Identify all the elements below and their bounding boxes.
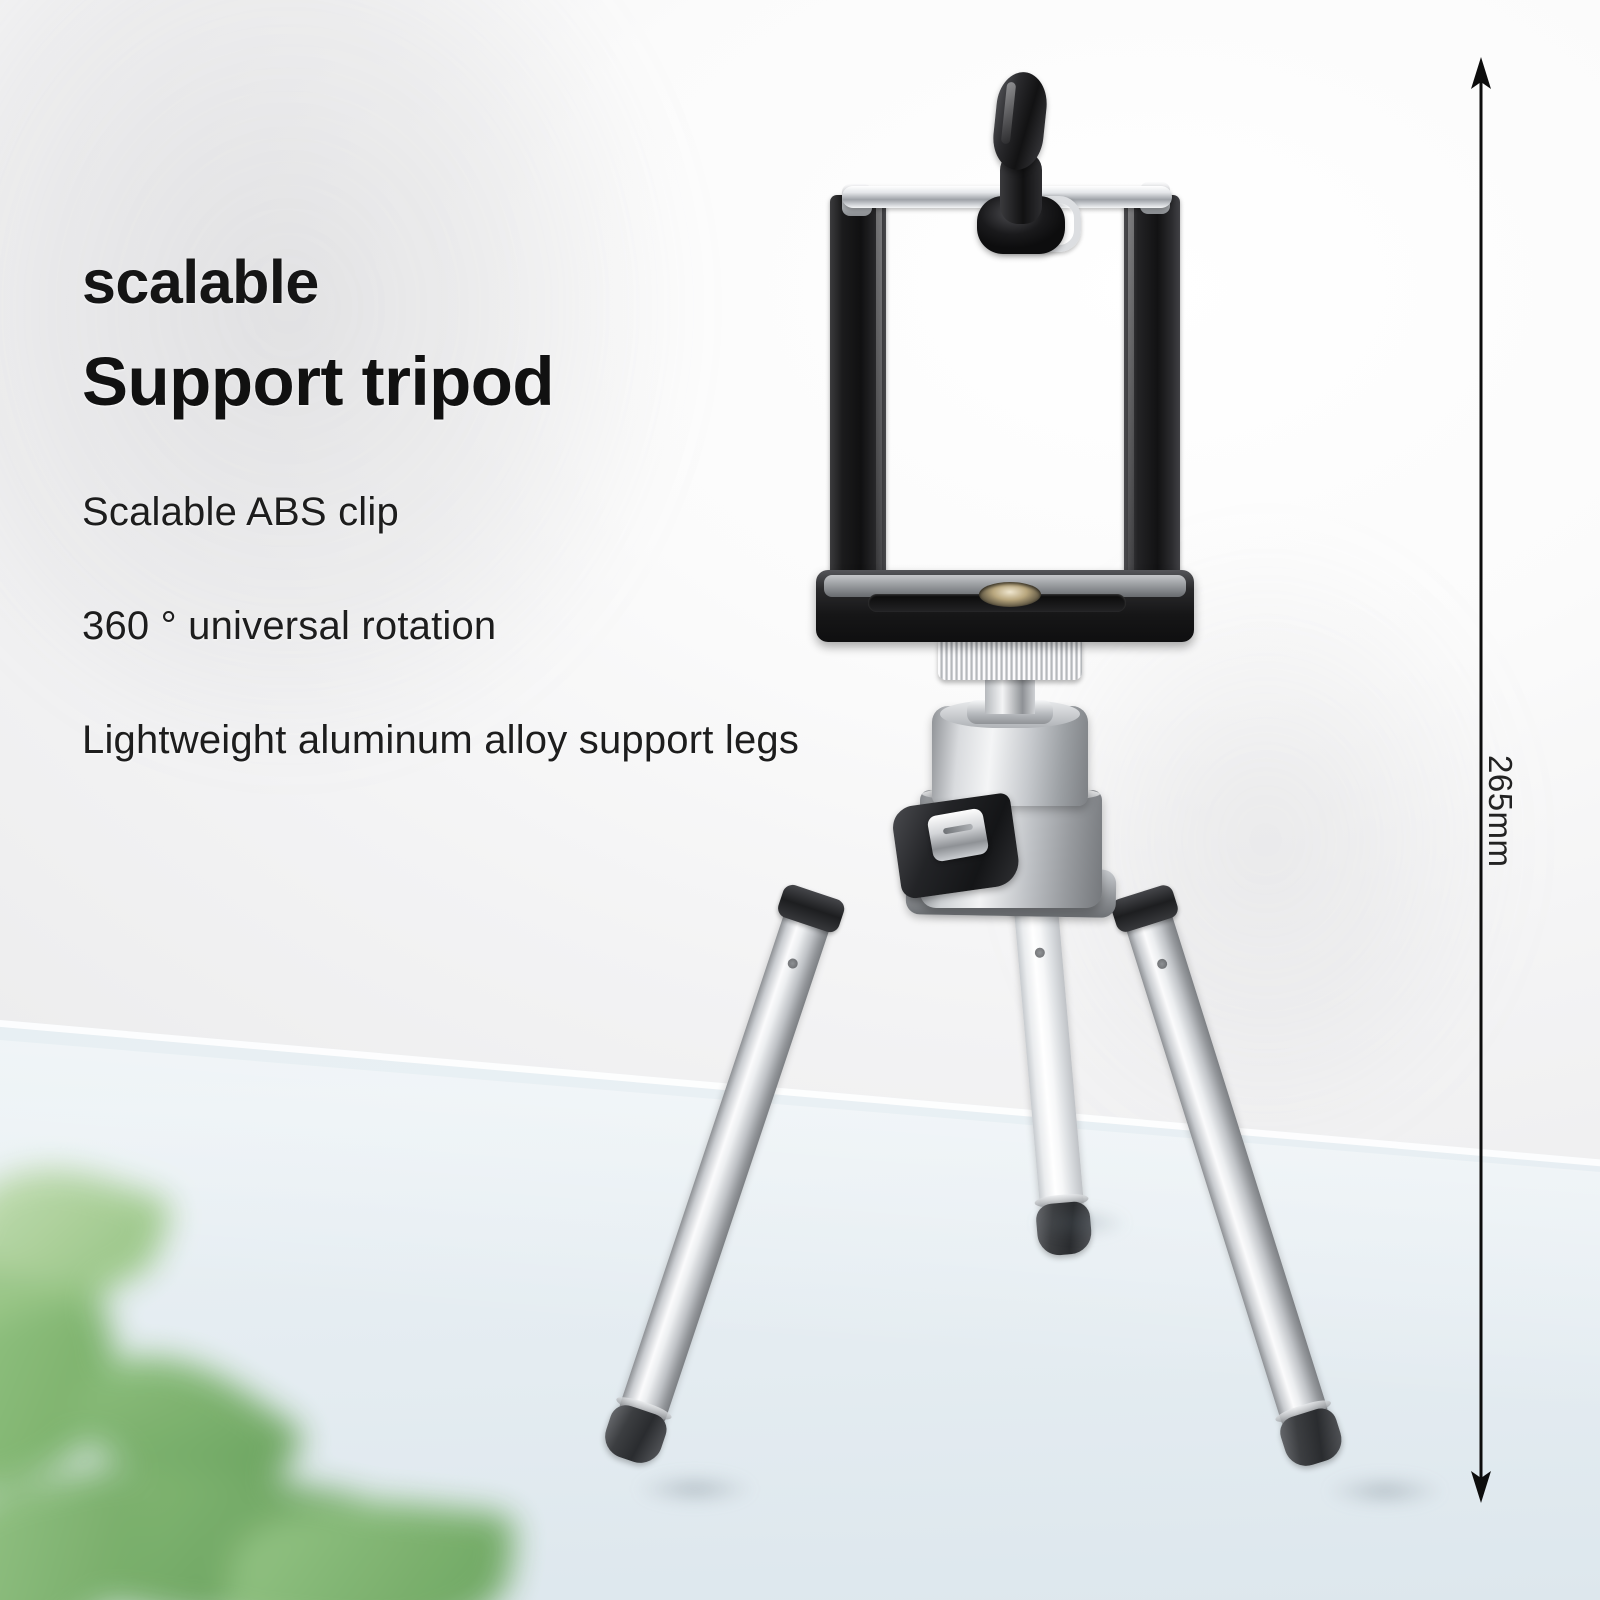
foot-shadow-back [1020,1206,1140,1240]
clip-base-plate [816,570,1194,642]
product-marketing-image: scalable Support tripod Scalable ABS cli… [0,0,1600,1600]
knurled-thumbwheel[interactable] [938,636,1082,680]
clip-jaw-right-highlight [1128,199,1134,591]
tripod-leg-right [1119,893,1333,1442]
foot-shadow-left [620,1468,770,1510]
foot-shadow-right [1310,1470,1460,1512]
tripod-leg-left [614,892,837,1438]
clip-jaw-left-highlight [876,199,882,591]
clip-release-knob[interactable] [990,70,1050,173]
tripod-leg-back [1012,884,1085,1227]
leg-tube [1119,893,1333,1442]
clip-base-screw-hole [979,582,1041,607]
leg-tube [614,892,837,1438]
tripod-product [0,0,1600,1600]
leg-tube [1012,884,1085,1227]
ball-head-lock-screw[interactable] [926,807,989,862]
